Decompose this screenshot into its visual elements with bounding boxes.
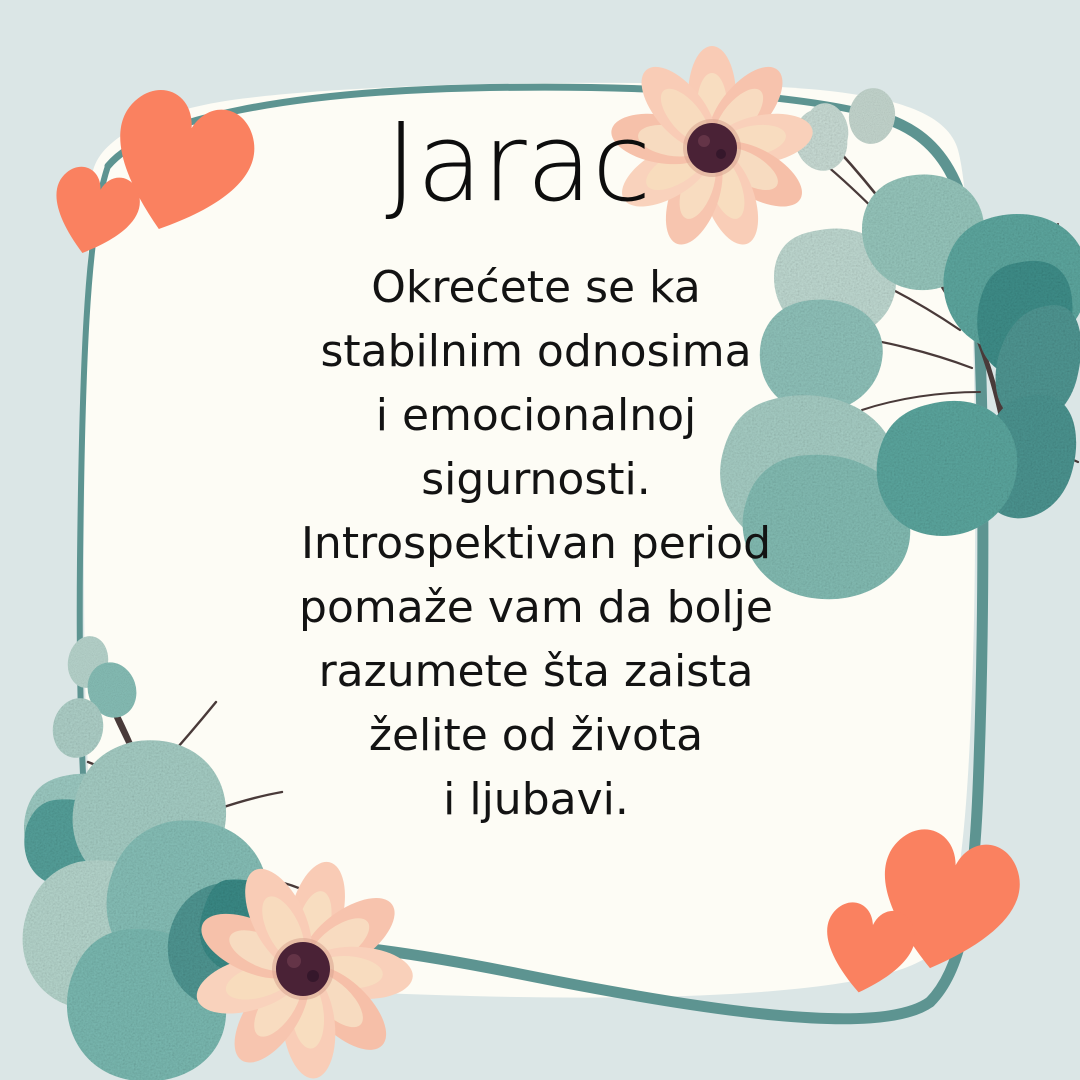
poster-canvas: Jarac Okrećete se ka stabilnim odnosima …	[0, 0, 1080, 1080]
anemone-flower-bottom-left	[0, 0, 1080, 1080]
flower-center	[276, 942, 330, 996]
